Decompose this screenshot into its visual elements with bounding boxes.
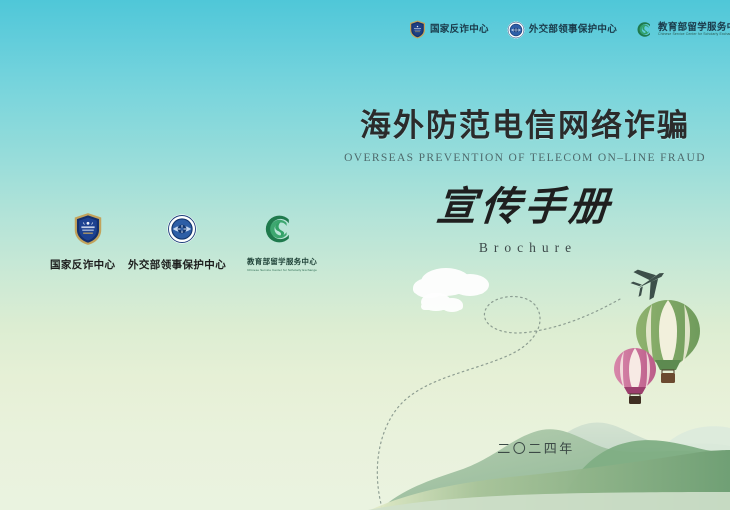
back-logo-cssc [262, 212, 296, 251]
cover-title-block: 海外防范电信网络诈骗 OVERSEAS PREVENTION OF TELECO… [330, 100, 720, 256]
brochure-cover-page: 国家反诈中心 外交部领事保护中心 [0, 0, 730, 510]
brochure-title-cn: 宣传手册 [327, 174, 722, 232]
back-logo-cssc-label-wrap: 教育部留学服务中心 Chinese Service Center for Sch… [247, 256, 317, 272]
hill-layer [368, 492, 730, 510]
pink-hot-air-balloon [614, 348, 656, 404]
back-logo-labels: 国家反诈中心 外交部领事保护中心 教育部留学服务中心 Chinese Servi… [50, 255, 325, 273]
brochure-title-en: Brochure [330, 240, 720, 256]
top-logo-cssc-text: 教育部留学服务中心 Chinese Service Center for Sch… [658, 23, 730, 37]
dotted-flight-path [377, 297, 622, 508]
back-logo-marks [50, 212, 325, 250]
back-logo-cssc-sublabel: Chinese Service Center for Scholarly Exc… [247, 268, 317, 272]
top-logo-police-label: 国家反诈中心 [430, 25, 489, 35]
back-logo-consular-label-wrap: 外交部领事保护中心 [128, 255, 226, 273]
cssc-green-c-icon [635, 20, 654, 39]
police-shield-icon [409, 20, 426, 39]
top-logo-strip: 国家反诈中心 外交部领事保护中心 [409, 20, 730, 39]
cssc-green-c-icon [262, 212, 296, 246]
publication-year: 二〇二四年 [456, 438, 616, 457]
cloud-icon [413, 268, 489, 298]
consular-circle-icon [167, 214, 197, 244]
back-logo-consular-label: 外交部领事保护中心 [128, 259, 226, 271]
back-logo-police-label: 国家反诈中心 [50, 259, 115, 271]
back-logo-cssc-label: 教育部留学服务中心 [247, 256, 317, 267]
top-logo-consular-text: 外交部领事保护中心 [529, 25, 617, 35]
back-logo-police [73, 212, 103, 251]
back-cover-logo-group: 国家反诈中心 外交部领事保护中心 教育部留学服务中心 Chinese Servi… [50, 212, 325, 273]
hill-layer [640, 426, 730, 510]
hill-layer [370, 450, 730, 510]
hill-layer [520, 423, 730, 510]
cloud-icon [421, 293, 463, 312]
airplane-icon [627, 259, 672, 304]
top-logo-consular: 外交部领事保护中心 [507, 21, 617, 39]
page-title: 海外防范电信网络诈骗 [330, 100, 720, 145]
top-logo-cssc: 教育部留学服务中心 Chinese Service Center for Sch… [635, 20, 730, 39]
page-title-english: OVERSEAS PREVENTION OF TELECOM ON–LINE F… [330, 152, 720, 164]
top-logo-police-text: 国家反诈中心 [430, 25, 489, 35]
consular-circle-icon [507, 21, 525, 39]
green-hot-air-balloon [636, 300, 700, 383]
back-logo-consular [167, 214, 197, 249]
top-logo-consular-label: 外交部领事保护中心 [529, 25, 617, 35]
police-shield-icon [73, 212, 103, 246]
top-logo-police: 国家反诈中心 [409, 20, 489, 39]
back-logo-police-label-wrap: 国家反诈中心 [50, 255, 115, 273]
top-logo-cssc-sublabel: Chinese Service Center for Scholarly Exc… [658, 33, 730, 37]
